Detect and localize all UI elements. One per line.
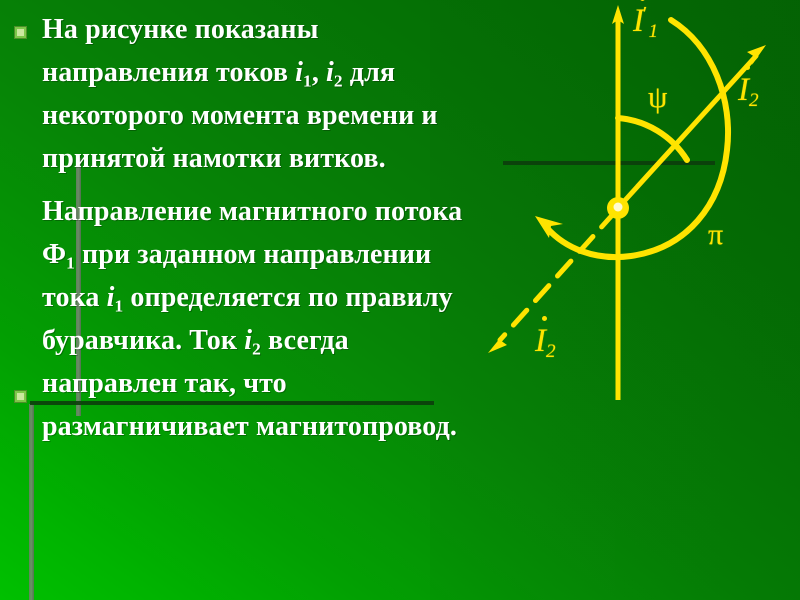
origin-dot bbox=[607, 197, 629, 219]
label-i1-sub: 1 bbox=[648, 21, 658, 42]
current-direction-diagram: .yl { stroke: #ffe400; fill: none; strok… bbox=[455, 0, 800, 400]
label-i2-top: I2 bbox=[738, 72, 759, 109]
label-psi: ψ bbox=[648, 79, 667, 115]
dot-accent-i2-top bbox=[745, 65, 750, 70]
label-i2-bottom: I2 bbox=[535, 323, 556, 360]
label-i1-prime: ′ bbox=[642, 3, 646, 25]
square-bullet-icon bbox=[14, 26, 27, 39]
square-bullet-icon bbox=[14, 390, 27, 403]
slide-canvas: На рисунке показаны направления токов i1… bbox=[0, 0, 800, 600]
label-i2-bottom-base: I bbox=[535, 323, 546, 359]
label-i2-bottom-sub: 2 bbox=[546, 341, 556, 362]
label-i2-top-base: I bbox=[738, 72, 749, 108]
label-i2-top-sub: 2 bbox=[749, 90, 759, 111]
slide-body-text: На рисунке показаны направления токов i1… bbox=[0, 0, 470, 600]
diagram-svg: .yl { stroke: #ffe400; fill: none; strok… bbox=[455, 0, 800, 400]
arrowhead-arc-end bbox=[535, 216, 563, 238]
diagonal-arrow-i2 bbox=[618, 45, 766, 208]
dot-accent-i2-bottom bbox=[542, 316, 547, 321]
label-i1: I′1 bbox=[633, 3, 658, 40]
arc-psi bbox=[618, 118, 687, 160]
bullet-item-1-text: На рисунке показаны направления токов i1… bbox=[42, 8, 467, 180]
bullet-item-2-text: Направление магнитного потока Ф1 при зад… bbox=[42, 190, 467, 448]
arc-pi bbox=[535, 20, 728, 257]
label-pi: π bbox=[708, 218, 723, 252]
